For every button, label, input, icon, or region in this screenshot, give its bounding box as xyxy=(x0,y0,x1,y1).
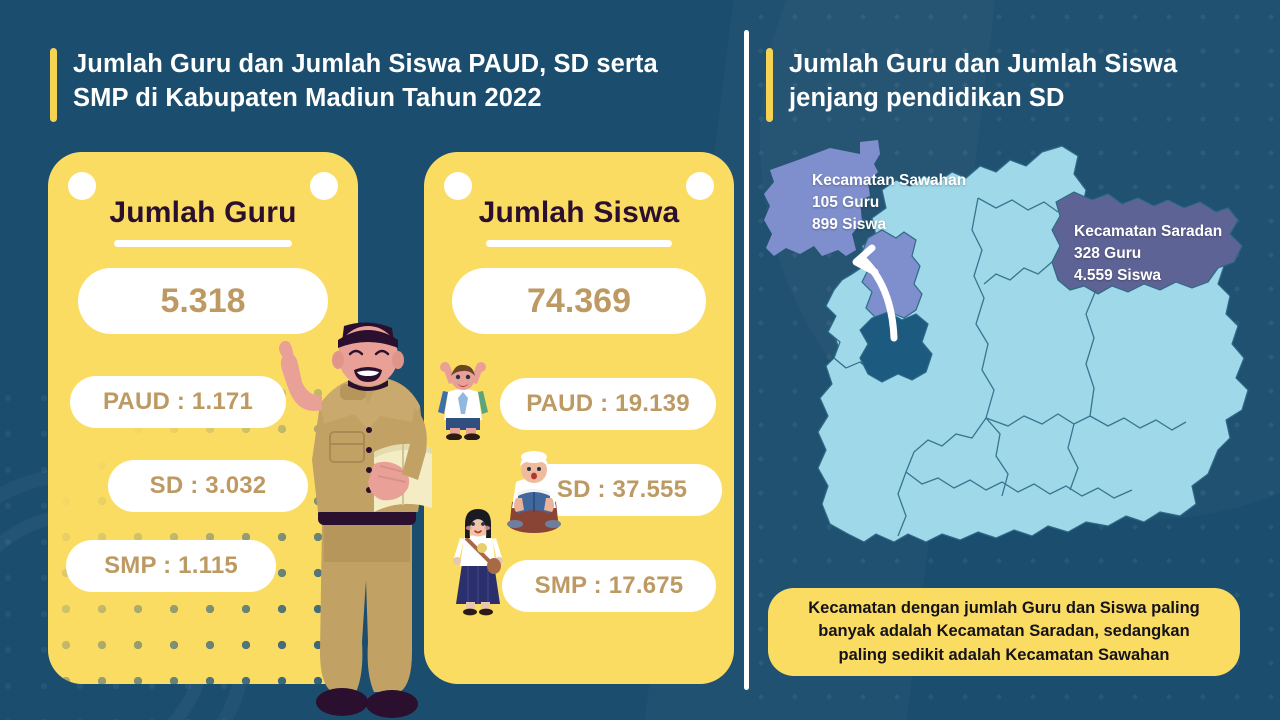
stat-pill-guru-paud: PAUD : 1.171 xyxy=(70,376,286,428)
card-underline xyxy=(486,240,672,247)
right-panel-title: Jumlah Guru dan Jumlah Siswa jenjang pen… xyxy=(766,48,1236,122)
stat-pill-siswa-smp: SMP : 17.675 xyxy=(502,560,716,612)
infographic-canvas: Jumlah Guru dan Jumlah Siswa PAUD, SD se… xyxy=(0,0,1280,720)
total-siswa-pill: 74.369 xyxy=(452,268,706,334)
stat-pill-guru-smp: SMP : 1.115 xyxy=(66,540,276,592)
map-caption-box: Kecamatan dengan jumlah Guru dan Siswa p… xyxy=(768,588,1240,676)
card-heading-siswa: Jumlah Siswa xyxy=(424,196,734,230)
right-title-text: Jumlah Guru dan Jumlah Siswa jenjang pen… xyxy=(789,48,1177,115)
student-smp-illustration xyxy=(448,508,508,618)
map-caption-text: Kecamatan dengan jumlah Guru dan Siswa p… xyxy=(808,597,1200,667)
map-label-sawahan: Kecamatan Sawahan 105 Guru 899 Siswa xyxy=(812,170,966,236)
map-label-saradan: Kecamatan Saradan 328 Guru 4.559 Siswa xyxy=(1074,221,1222,287)
card-heading-guru: Jumlah Guru xyxy=(48,196,358,230)
panel-divider xyxy=(744,30,749,690)
student-sd-illustration xyxy=(500,448,568,534)
title-accent-bar xyxy=(766,48,773,122)
left-title-text: Jumlah Guru dan Jumlah Siswa PAUD, SD se… xyxy=(73,48,658,115)
left-panel-title: Jumlah Guru dan Jumlah Siswa PAUD, SD se… xyxy=(50,48,710,122)
card-underline xyxy=(114,240,292,247)
title-accent-bar xyxy=(50,48,57,122)
student-paud-illustration xyxy=(432,362,494,440)
stat-pill-siswa-paud: PAUD : 19.139 xyxy=(500,378,716,430)
